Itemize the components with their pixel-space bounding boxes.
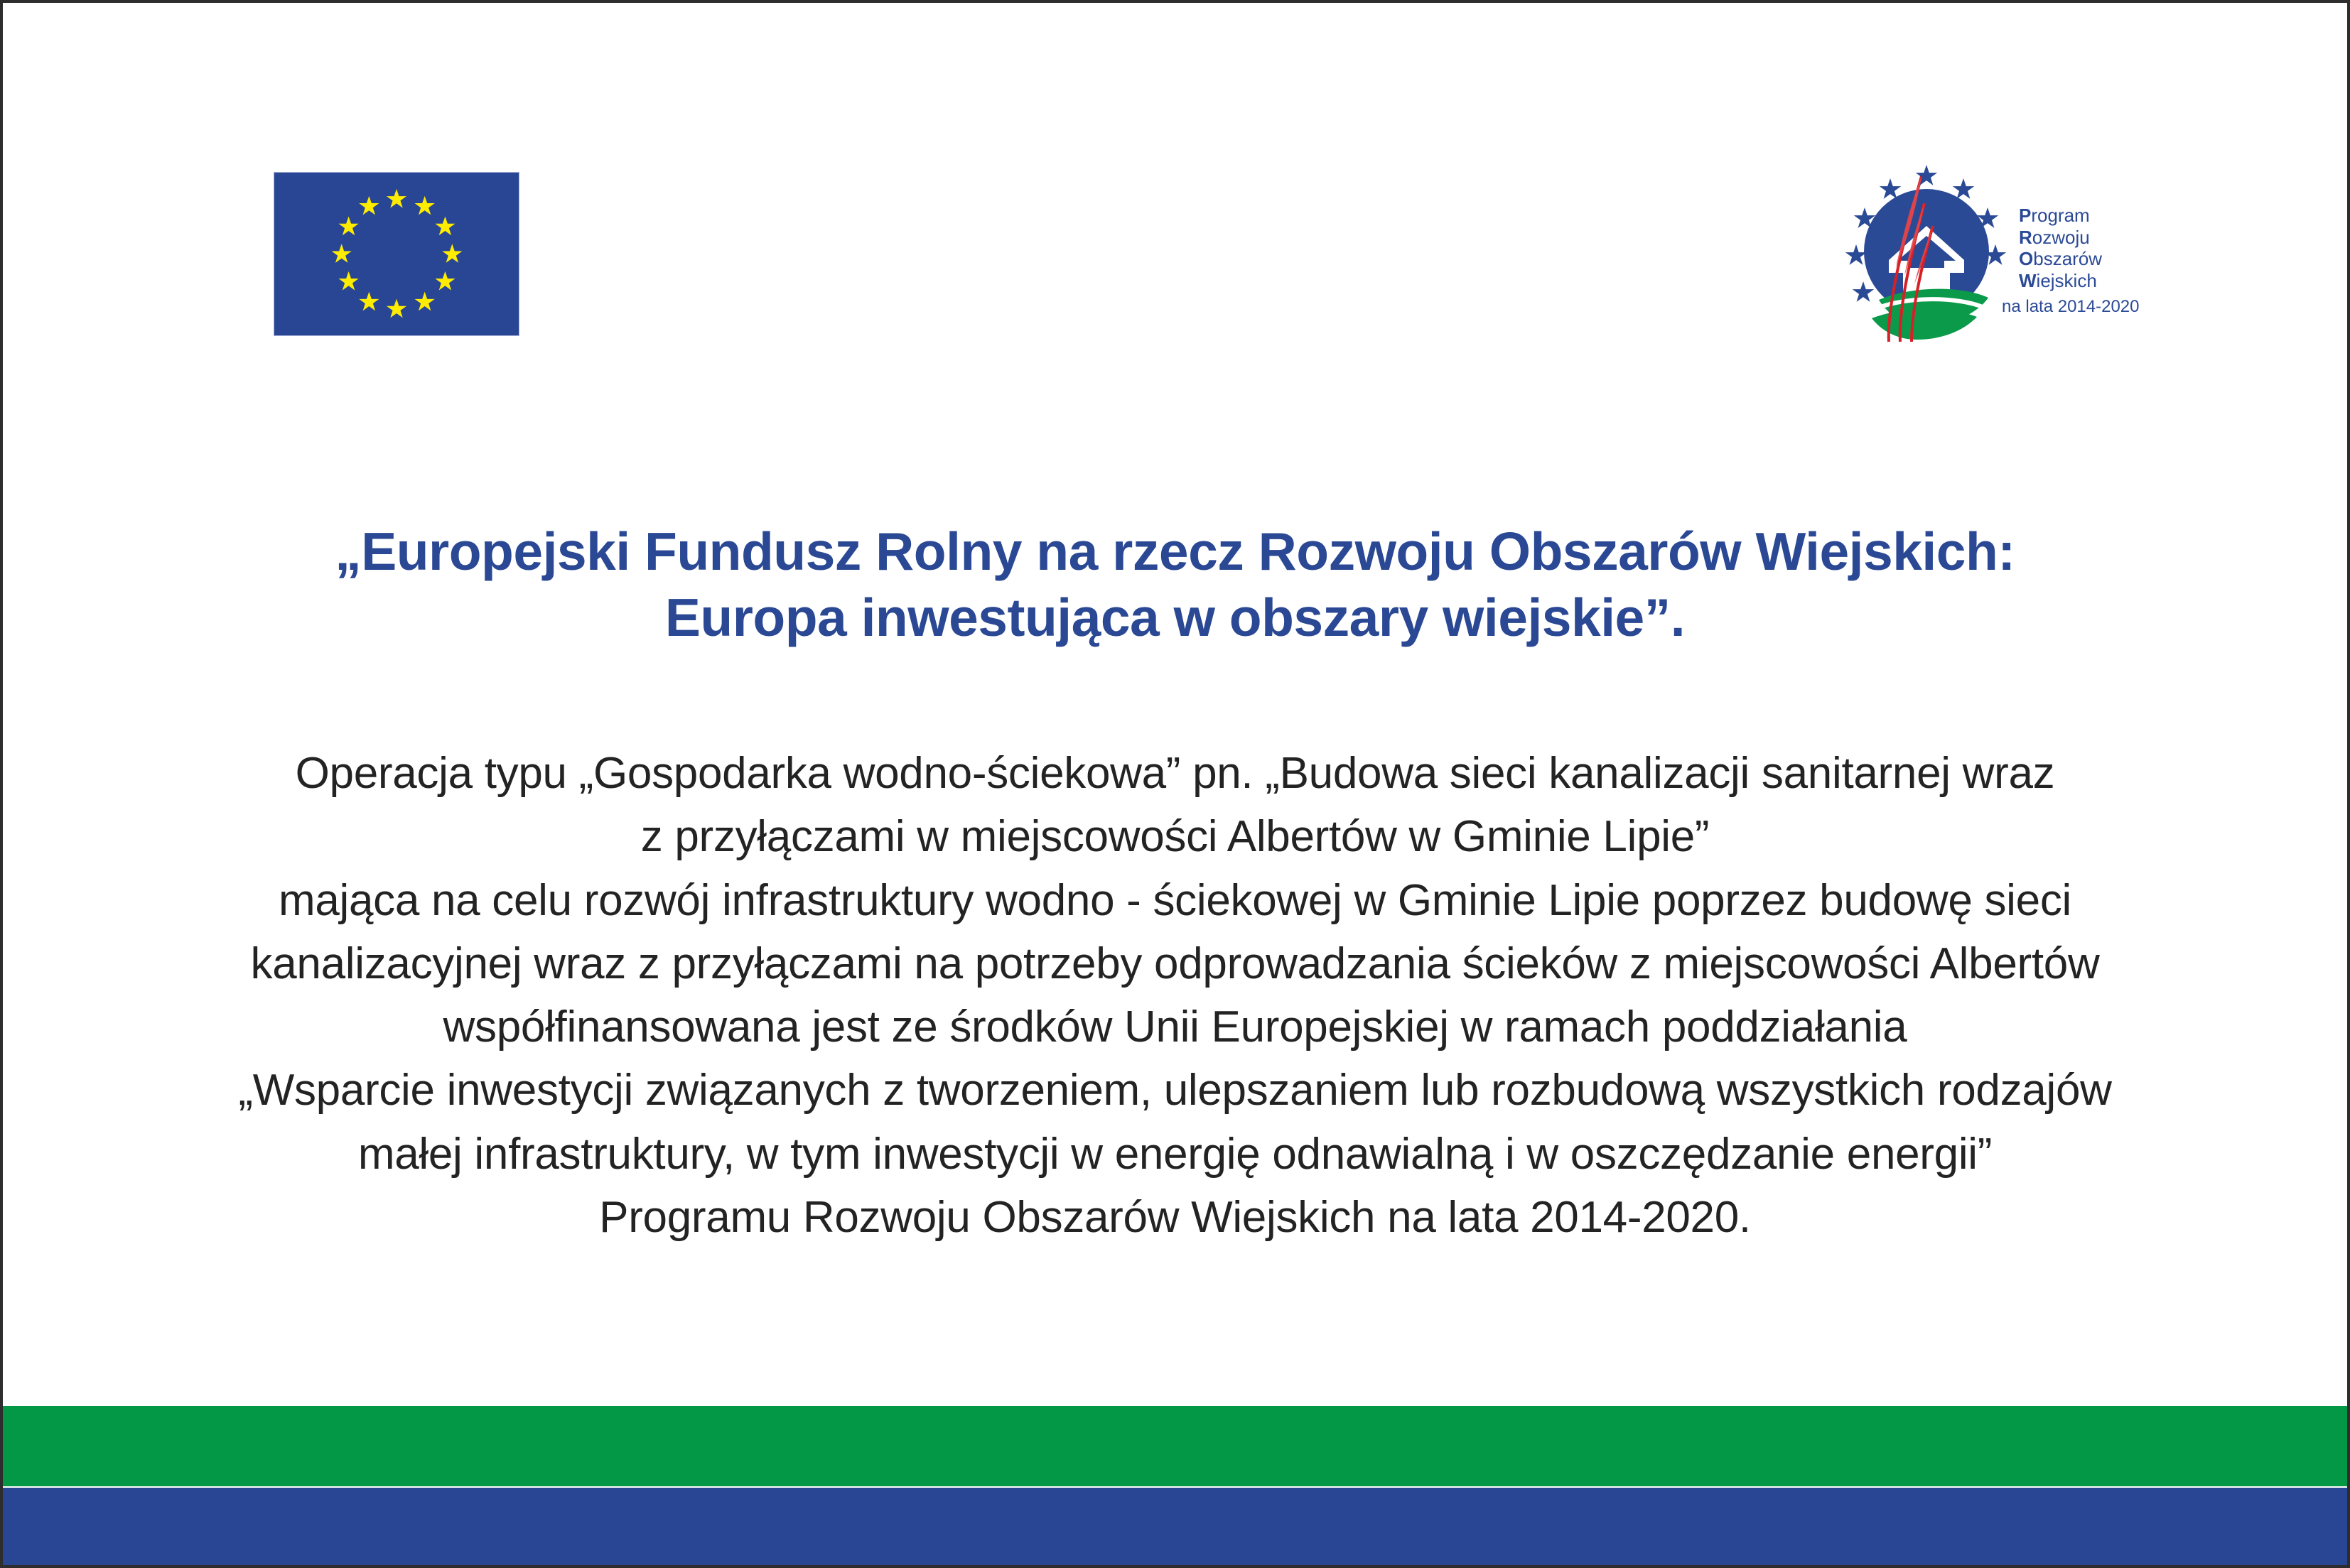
eu-flag-icon xyxy=(274,172,519,336)
information-board: Program Rozwoju Obszarów Wiejskich na la… xyxy=(0,0,2350,1568)
footer-green-bar xyxy=(3,1406,2347,1486)
prow-initial-w: W xyxy=(2019,270,2037,291)
prow-initial-p: P xyxy=(2019,205,2031,226)
prow-initial-r: R xyxy=(2019,227,2032,248)
headline-title: „Europejski Fundusz Rolny na rzecz Rozwo… xyxy=(3,519,2347,651)
footer-blue-bar xyxy=(3,1488,2347,1565)
prow-line-program: Program xyxy=(2019,205,2140,227)
headline-line-1: „Europejski Fundusz Rolny na rzecz Rozwo… xyxy=(3,519,2347,585)
body-line-1: Operacja typu „Gospodarka wodno-ściekowa… xyxy=(3,742,2347,805)
headline-line-2: Europa inwestująca w obszary wiejskie”. xyxy=(3,585,2347,651)
body-line-7: małej infrastruktury, w tym inwestycji w… xyxy=(3,1123,2347,1186)
body-line-8: Programu Rozwoju Obszarów Wiejskich na l… xyxy=(3,1186,2347,1249)
prow-logo-text: Program Rozwoju Obszarów Wiejskich na la… xyxy=(2019,205,2140,317)
prow-emblem-icon xyxy=(1838,161,2015,349)
body-line-5: współfinansowana jest ze środków Unii Eu… xyxy=(3,995,2347,1059)
prow-line-rozwoju: Rozwoju xyxy=(2019,227,2140,249)
prow-initial-o: O xyxy=(2019,248,2033,269)
prow-line-wiejskich: Wiejskich xyxy=(2019,270,2140,292)
prow-rest-program: rogram xyxy=(2031,205,2089,226)
prow-years-label: na lata 2014-2020 xyxy=(2002,297,2140,317)
body-line-3: mająca na celu rozwój infrastruktury wod… xyxy=(3,869,2347,932)
prow-rest-rozwoju: ozwoju xyxy=(2032,227,2090,248)
body-line-6: „Wsparcie inwestycji związanych z tworze… xyxy=(3,1059,2347,1122)
prow-line-obszarow: Obszarów xyxy=(2019,248,2140,270)
prow-logo: Program Rozwoju Obszarów Wiejskich na la… xyxy=(1838,161,2136,349)
eu-stars-icon xyxy=(274,173,519,335)
prow-rest-wiejskich: iejskich xyxy=(2037,270,2097,291)
body-line-2: z przyłączami w miejscowości Albertów w … xyxy=(3,805,2347,868)
body-line-4: kanalizacyjnej wraz z przyłączami na pot… xyxy=(3,932,2347,995)
body-paragraph: Operacja typu „Gospodarka wodno-ściekowa… xyxy=(3,742,2347,1249)
header-logos: Program Rozwoju Obszarów Wiejskich na la… xyxy=(3,3,2347,372)
prow-rest-obszarow: bszarów xyxy=(2033,248,2102,269)
